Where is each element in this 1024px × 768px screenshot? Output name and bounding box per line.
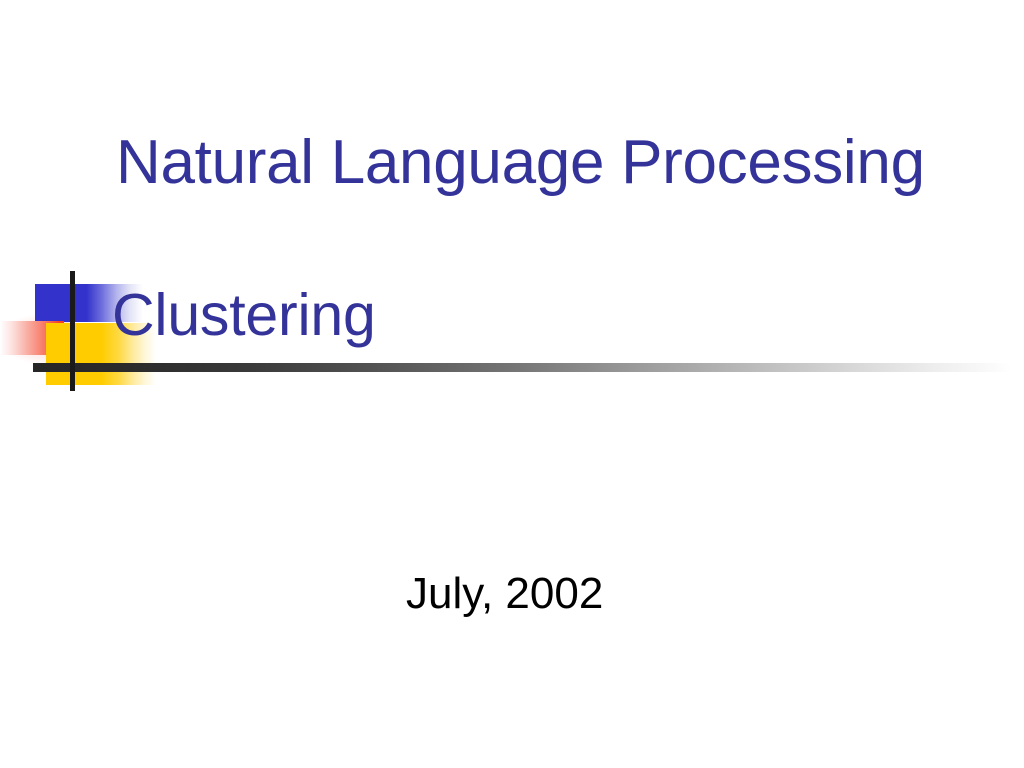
slide-subtitle: Clustering [112,286,376,345]
slide-date: July, 2002 [406,572,603,616]
vertical-rule [70,271,75,391]
horizontal-rule [33,363,1011,372]
slide-title: Natural Language Processing [116,132,976,194]
presentation-slide: Natural Language Processing Clustering J… [0,0,1024,768]
